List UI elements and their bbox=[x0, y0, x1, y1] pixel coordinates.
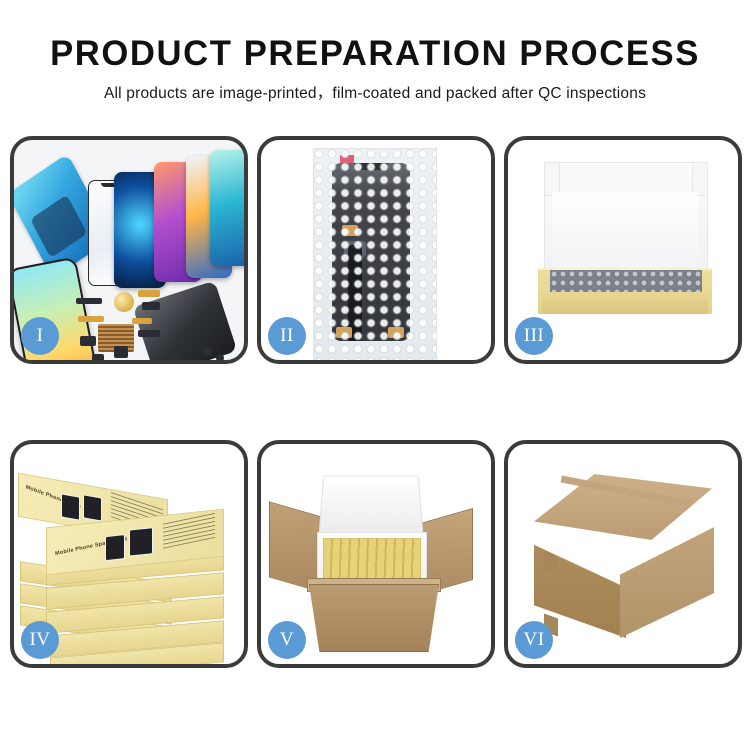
process-step-panel-4[interactable]: Mobile Phone Spare Parts Mobile Phone Sp… bbox=[10, 440, 248, 668]
box-art-screen-1 bbox=[61, 493, 80, 520]
page-subtitle: All products are image-printed，film-coat… bbox=[0, 83, 750, 105]
process-step-grid: I II III bbox=[10, 136, 742, 668]
small-part-graphic-1 bbox=[76, 298, 102, 304]
yellow-box-front-graphic bbox=[542, 292, 708, 314]
box-art-screen-4 bbox=[129, 527, 153, 557]
phone-screen-graphic-d bbox=[210, 150, 244, 266]
small-part-graphic-4 bbox=[138, 330, 160, 337]
page-header: PRODUCT PREPARATION PROCESS All products… bbox=[0, 0, 750, 105]
box-lid-flap-left-graphic bbox=[544, 162, 560, 196]
carton-top-face-graphic bbox=[534, 474, 712, 540]
foam-sheet-graphic bbox=[552, 192, 698, 270]
flex-cable-graphic-2 bbox=[78, 316, 104, 322]
process-step-panel-1[interactable]: I bbox=[10, 136, 248, 364]
small-part-graphic-3 bbox=[80, 336, 96, 346]
step-badge-2: II bbox=[268, 317, 306, 355]
step-badge-4: IV bbox=[21, 621, 59, 659]
small-part-graphic-2 bbox=[142, 302, 160, 310]
step-badge-1: I bbox=[21, 317, 59, 355]
process-step-panel-5[interactable]: V bbox=[257, 440, 495, 668]
speaker-coil-graphic bbox=[114, 292, 134, 312]
bubble-texture-graphic bbox=[314, 149, 436, 360]
box-art-screen-2 bbox=[83, 494, 102, 521]
small-part-graphic-6 bbox=[92, 354, 104, 360]
foam-lid-graphic bbox=[319, 476, 424, 535]
flex-cable-graphic-1 bbox=[138, 290, 160, 297]
flex-cable-graphic-3 bbox=[132, 318, 152, 324]
bubble-bag-graphic bbox=[313, 148, 437, 360]
box-art-screen-3 bbox=[105, 534, 125, 561]
process-step-panel-3[interactable]: III bbox=[504, 136, 742, 364]
page-title: PRODUCT PREPARATION PROCESS bbox=[4, 34, 747, 74]
carton-body-graphic bbox=[309, 584, 439, 652]
box-lid-flap-right-graphic bbox=[692, 162, 708, 196]
process-step-panel-2[interactable]: II bbox=[257, 136, 495, 364]
step-badge-5: V bbox=[268, 621, 306, 659]
box-art-textlines-2 bbox=[163, 512, 215, 549]
screw-graphic-2 bbox=[216, 354, 224, 360]
small-part-graphic-5 bbox=[114, 346, 128, 358]
step-badge-3: III bbox=[515, 317, 553, 355]
step-badge-6: VI bbox=[515, 621, 553, 659]
process-step-panel-6[interactable]: VI bbox=[504, 440, 742, 668]
screw-graphic-1 bbox=[202, 346, 212, 356]
